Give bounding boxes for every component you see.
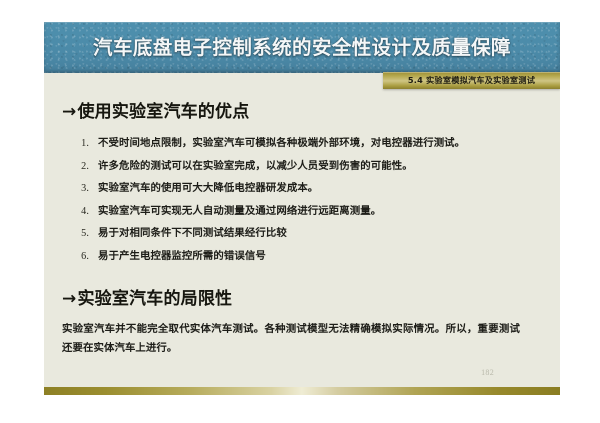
list-item-text: 实验室汽车的使用可大大降低电控器研发成本。 — [98, 179, 560, 194]
presentation-slide: 汽车底盘电子控制系统的安全性设计及质量保障 5.4 实验室模拟汽车及实验室测试 … — [44, 22, 560, 395]
list-item: 2. 许多危险的测试可以在实验室完成，以减少人员受到伤害的可能性。 — [44, 157, 560, 172]
list-item: 3. 实验室汽车的使用可大大降低电控器研发成本。 — [44, 179, 560, 194]
heading-limitations-label: 实验室汽车的局限性 — [77, 284, 232, 309]
advantages-list: 1. 不受时间地点限制，实验室汽车可模拟各种极端外部环境，对电控器进行测试。 2… — [44, 134, 560, 262]
arrow-right-icon: → — [62, 289, 76, 309]
list-item-number: 4. — [68, 206, 98, 217]
section-badge: 5.4 实验室模拟汽车及实验室测试 — [383, 72, 560, 89]
heading-limitations: → 实验室汽车的局限性 — [44, 284, 560, 309]
list-item: 1. 不受时间地点限制，实验室汽车可模拟各种极端外部环境，对电控器进行测试。 — [44, 134, 560, 149]
list-item-number: 1. — [68, 138, 98, 149]
heading-advantages-label: 使用实验室汽车的优点 — [77, 97, 249, 122]
list-item: 6. 易于产生电控器监控所需的错误信号 — [44, 247, 560, 262]
arrow-right-icon: → — [62, 102, 76, 122]
list-item-text: 不受时间地点限制，实验室汽车可模拟各种极端外部环境，对电控器进行测试。 — [98, 134, 560, 149]
list-item-number: 2. — [68, 161, 98, 172]
page-number: 182 — [481, 368, 494, 377]
list-item-number: 6. — [68, 251, 98, 262]
list-item: 4. 实验室汽车可实现无人自动测量及通过网络进行远距离测量。 — [44, 202, 560, 217]
slide-title: 汽车底盘电子控制系统的安全性设计及质量保障 — [44, 22, 560, 73]
slide-title-band: 汽车底盘电子控制系统的安全性设计及质量保障 — [44, 22, 560, 73]
slide-content: → 使用实验室汽车的优点 1. 不受时间地点限制，实验室汽车可模拟各种极端外部环… — [44, 89, 560, 379]
section-badge-label: 5.4 实验室模拟汽车及实验室测试 — [383, 72, 560, 89]
heading-advantages: → 使用实验室汽车的优点 — [44, 97, 560, 122]
slide-bottom-bar — [44, 387, 560, 395]
list-item-text: 易于对相同条件下不同测试结果经行比较 — [98, 224, 560, 239]
list-item-number: 3. — [68, 183, 98, 194]
list-item-text: 实验室汽车可实现无人自动测量及通过网络进行远距离测量。 — [98, 202, 560, 217]
list-item-number: 5. — [68, 228, 98, 239]
list-item: 5. 易于对相同条件下不同测试结果经行比较 — [44, 224, 560, 239]
list-item-text: 易于产生电控器监控所需的错误信号 — [98, 247, 560, 262]
list-item-text: 许多危险的测试可以在实验室完成，以减少人员受到伤害的可能性。 — [98, 157, 560, 172]
limitations-paragraph: 实验室汽车并不能完全取代实体汽车测试。各种测试模型无法精确模拟实际情况。所以，重… — [44, 320, 560, 358]
